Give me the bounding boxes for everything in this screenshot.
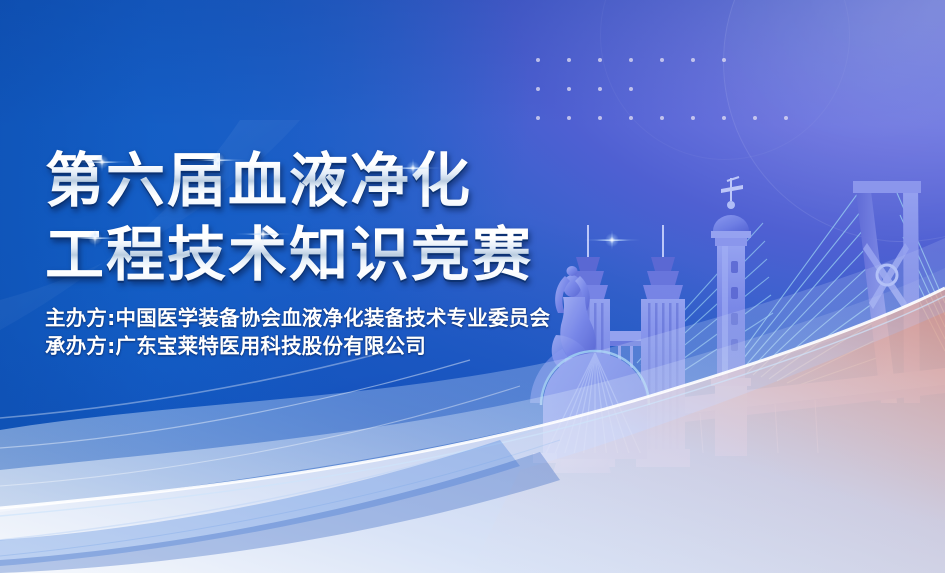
dot-icon bbox=[722, 116, 726, 120]
dot-icon bbox=[629, 58, 633, 62]
dot-icon bbox=[567, 87, 571, 91]
dot-icon bbox=[567, 116, 571, 120]
dot-icon bbox=[598, 58, 602, 62]
dot-grid-row bbox=[536, 58, 815, 62]
page-title-line-2: 工程技术知识竞赛 bbox=[45, 220, 550, 290]
dot-grid-row bbox=[536, 116, 815, 120]
dot-icon bbox=[691, 116, 695, 120]
dot-icon bbox=[753, 116, 757, 120]
dot-icon bbox=[629, 87, 633, 91]
dot-icon bbox=[536, 116, 540, 120]
dot-icon bbox=[598, 116, 602, 120]
banner-text-block: 第六届血液净化 工程技术知识竞赛 主办方:中国医学装备协会血液净化装备技术专业委… bbox=[45, 146, 550, 360]
dot-icon bbox=[536, 58, 540, 62]
page-title-line-1: 第六届血液净化 bbox=[45, 146, 550, 216]
dot-grid-decoration bbox=[536, 58, 815, 120]
dot-icon bbox=[536, 87, 540, 91]
dot-icon bbox=[691, 58, 695, 62]
event-banner: 第六届血液净化 工程技术知识竞赛 主办方:中国医学装备协会血液净化装备技术专业委… bbox=[0, 0, 945, 573]
dot-icon bbox=[567, 58, 571, 62]
dot-grid-row bbox=[536, 87, 815, 91]
organizer-line: 主办方:中国医学装备协会血液净化装备技术专业委员会 bbox=[45, 304, 550, 332]
dot-icon bbox=[660, 116, 664, 120]
dot-icon bbox=[660, 58, 664, 62]
co-organizer-line: 承办方:广东宝莱特医用科技股份有限公司 bbox=[45, 332, 550, 360]
dot-icon bbox=[629, 116, 633, 120]
dot-icon bbox=[784, 116, 788, 120]
dot-icon bbox=[598, 87, 602, 91]
dot-icon bbox=[722, 58, 726, 62]
